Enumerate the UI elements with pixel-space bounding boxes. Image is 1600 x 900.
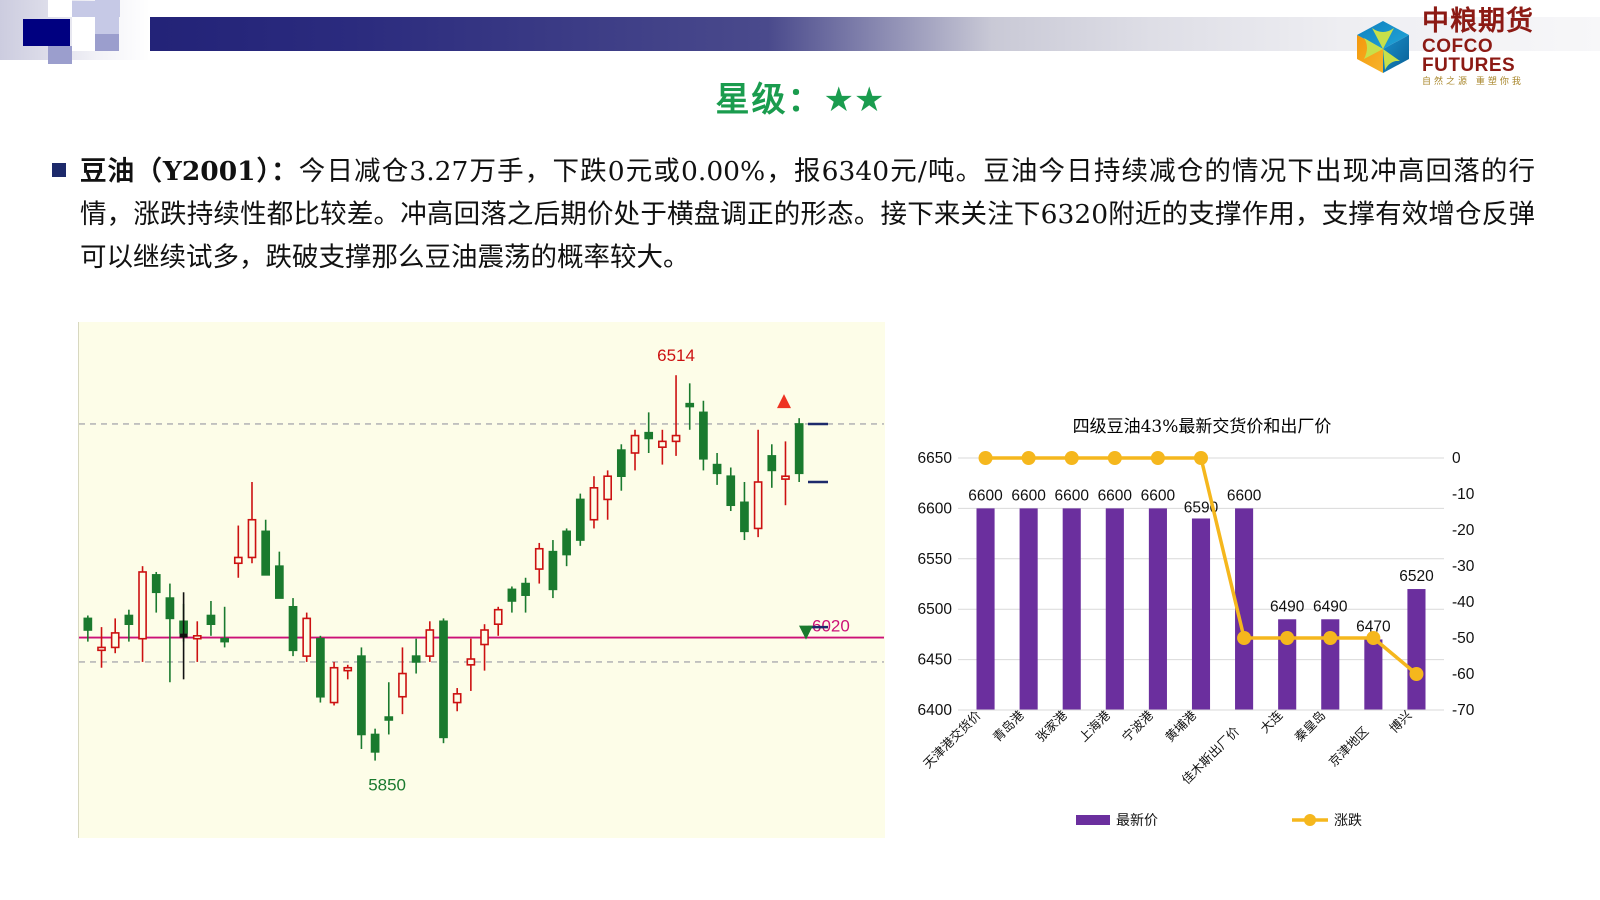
legend-label-latest-price: 最新价 xyxy=(1116,813,1158,829)
svg-text:张家港: 张家港 xyxy=(1033,707,1070,744)
logo-english-name: COFCO FUTURES xyxy=(1422,37,1582,75)
svg-text:博兴: 博兴 xyxy=(1386,708,1414,736)
bar-category-label: 佳木斯出厂价 xyxy=(1179,723,1243,787)
svg-text:京津地区: 京津地区 xyxy=(1326,724,1372,770)
bar-category-label: 黄埔港 xyxy=(1162,707,1199,744)
kchart-low-label: 5850 xyxy=(368,776,406,795)
bar-left-axis-tick: 6450 xyxy=(918,652,953,669)
commentary-text: 豆油（Y2001）：今日减仓3.27万手，下跌0元或0.00%，报6340元/吨… xyxy=(80,150,1535,279)
bar-column xyxy=(1407,589,1425,710)
kchart-high-label: 6514 xyxy=(657,346,695,365)
line-marker xyxy=(1022,451,1036,465)
line-marker xyxy=(979,451,993,465)
commentary-block: 豆油（Y2001）：今日减仓3.27万手，下跌0元或0.00%，报6340元/吨… xyxy=(52,150,1552,279)
bar-value-label: 6600 xyxy=(1141,487,1176,504)
svg-text:宁波港: 宁波港 xyxy=(1119,707,1156,744)
bar-value-label: 6600 xyxy=(1011,487,1046,504)
line-marker xyxy=(1151,451,1165,465)
bar-category-label: 宁波港 xyxy=(1119,707,1156,744)
header-deco-block-d xyxy=(72,17,96,51)
logo-chinese-name: 中粮期货 xyxy=(1422,8,1534,35)
line-marker xyxy=(1237,631,1251,645)
bar-chart-legend: 最新价涨跌 xyxy=(1076,813,1362,829)
legend-label-change: 涨跌 xyxy=(1334,813,1362,829)
bar-right-axis-tick: -10 xyxy=(1452,486,1475,503)
bar-value-label: 6600 xyxy=(1054,487,1089,504)
bar-category-label: 张家港 xyxy=(1033,707,1070,744)
cofco-cube-logo-icon xyxy=(1352,16,1414,78)
bar-left-axis-tick: 6550 xyxy=(918,551,953,568)
svg-text:佳木斯出厂价: 佳木斯出厂价 xyxy=(1179,723,1243,787)
bar-value-label: 6490 xyxy=(1270,598,1305,615)
bar-value-label: 6600 xyxy=(1227,487,1262,504)
bar-right-axis-tick: -70 xyxy=(1452,702,1475,719)
bar-category-label: 青岛港 xyxy=(990,707,1027,744)
bar-right-axis-tick: -40 xyxy=(1452,594,1475,611)
bar-left-axis-tick: 6500 xyxy=(918,601,953,618)
bar-left-axis-tick: 6400 xyxy=(918,702,953,719)
header-deco-square-2 xyxy=(95,34,119,51)
bar-category-label: 大连 xyxy=(1257,707,1286,736)
bar-value-label: 6600 xyxy=(968,487,1003,504)
bar-value-label: 6490 xyxy=(1313,598,1348,615)
header-deco-block-pale xyxy=(95,0,120,17)
bar-value-label: 6600 xyxy=(1098,487,1133,504)
bar-category-label: 京津地区 xyxy=(1326,724,1372,770)
commentary-body: 今日减仓3.27万手，下跌0元或0.00%，报6340元/吨。豆油今日持续减仓的… xyxy=(80,156,1535,273)
svg-text:秦皇岛: 秦皇岛 xyxy=(1291,708,1328,745)
candlestick-chart: 651458506020 xyxy=(78,322,885,838)
bar-right-axis-tick: -30 xyxy=(1452,558,1475,575)
bar-right-axis-tick: -50 xyxy=(1452,630,1475,647)
svg-text:上海港: 上海港 xyxy=(1076,707,1113,744)
bar-column xyxy=(1192,518,1210,710)
bar-column xyxy=(1063,508,1081,710)
square-bullet-icon xyxy=(52,163,66,177)
bar-column xyxy=(1149,508,1167,710)
bar-category-label: 上海港 xyxy=(1076,707,1113,744)
delivery-price-chart: 四级豆油43%最新交货价和出厂价 64006450650065506600665… xyxy=(912,400,1492,860)
bar-category-label: 秦皇岛 xyxy=(1291,708,1328,745)
bar-right-axis-tick: -60 xyxy=(1452,666,1475,683)
bar-right-axis-tick: -20 xyxy=(1452,522,1475,539)
slide-canvas: 中粮期货 COFCO FUTURES 自然之源 重塑你我 星级：★★ 豆油（Y2… xyxy=(0,0,1600,900)
line-marker xyxy=(1366,631,1380,645)
line-marker xyxy=(1323,631,1337,645)
star-rating-stars: ★★ xyxy=(824,80,885,120)
candlestick-plot: 651458506020 xyxy=(79,322,886,838)
star-rating-label: 星级： xyxy=(716,80,824,120)
header-deco-square-1 xyxy=(95,17,119,34)
bar-left-axis-tick: 6600 xyxy=(918,500,953,517)
bar-column xyxy=(1364,639,1382,710)
header-deco-navy-square xyxy=(23,19,70,46)
svg-text:黄埔港: 黄埔港 xyxy=(1162,707,1199,744)
kchart-down-arrow-icon xyxy=(799,584,813,640)
bar-category-label: 博兴 xyxy=(1386,708,1414,736)
kchart-up-arrow-icon xyxy=(777,394,791,450)
bar-column xyxy=(1106,508,1124,710)
header-deco-mask xyxy=(48,0,72,17)
bar-column xyxy=(976,508,994,710)
bar-value-label: 6520 xyxy=(1399,568,1434,585)
header-deco-square-3 xyxy=(48,46,72,64)
svg-text:青岛港: 青岛港 xyxy=(990,707,1027,744)
svg-text:大连: 大连 xyxy=(1257,707,1286,736)
line-marker xyxy=(1280,631,1294,645)
bar-right-axis-tick: 0 xyxy=(1452,450,1461,467)
bar-column xyxy=(1020,508,1038,710)
line-marker xyxy=(1065,451,1079,465)
star-rating-title: 星级：★★ xyxy=(0,72,1600,121)
line-marker xyxy=(1108,451,1122,465)
line-marker xyxy=(1409,667,1423,681)
commentary-lead: 豆油（Y2001）： xyxy=(80,156,299,187)
bar-chart-plot: 640064506500655066006650-70-60-50-40-30-… xyxy=(912,400,1492,860)
bar-left-axis-tick: 6650 xyxy=(918,450,953,467)
line-marker xyxy=(1194,451,1208,465)
